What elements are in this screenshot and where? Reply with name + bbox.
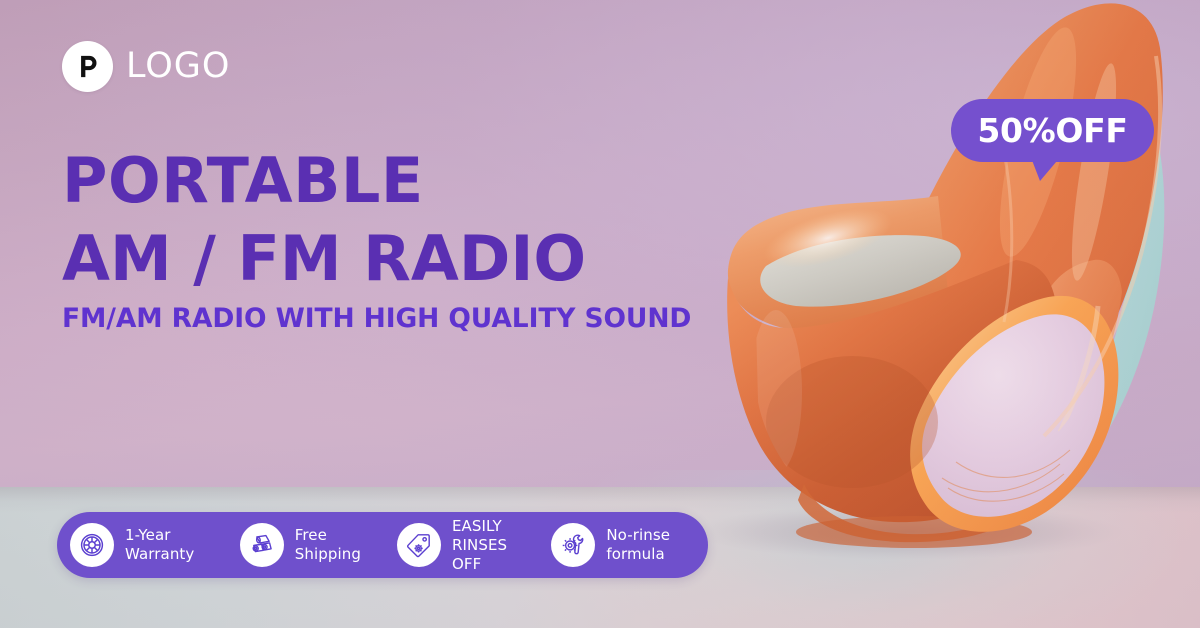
feature-item-no-rinse[interactable]: No-rinse formula bbox=[551, 523, 698, 567]
feature-item-rinses-off[interactable]: EASILY RINSES OFF bbox=[397, 517, 551, 574]
feature-item-shipping[interactable]: Free Shipping bbox=[240, 523, 397, 567]
feature-bar: 1-Year Warranty Free Shipping bbox=[57, 512, 708, 578]
feature-line-2: RINSES OFF bbox=[452, 536, 531, 574]
feature-line-2: formula bbox=[606, 545, 670, 564]
feature-item-warranty[interactable]: 1-Year Warranty bbox=[70, 523, 240, 567]
feature-line-1: No-rinse bbox=[606, 526, 670, 545]
feature-line-1: EASILY bbox=[452, 517, 531, 536]
p-monogram-icon bbox=[62, 41, 113, 92]
wheel-icon bbox=[70, 523, 114, 567]
feature-label-rinses-off: EASILY RINSES OFF bbox=[452, 517, 531, 574]
discount-badge[interactable]: 50%OFF bbox=[951, 99, 1154, 162]
headline-line-1: PORTABLE bbox=[62, 142, 702, 220]
feature-label-no-rinse: No-rinse formula bbox=[606, 526, 670, 564]
feature-line-2: Shipping bbox=[295, 545, 361, 564]
brand-logo[interactable]: LOGO bbox=[62, 41, 230, 92]
tag-gear-icon bbox=[397, 523, 441, 567]
feature-line-1: 1-Year bbox=[125, 526, 194, 545]
logo-text: LOGO bbox=[126, 49, 230, 84]
feature-line-1: Free bbox=[295, 526, 361, 545]
subheadline: FM/AM RADIO WITH HIGH QUALITY SOUND bbox=[62, 303, 702, 335]
headline-line-2: AM / FM RADIO bbox=[62, 220, 702, 298]
feature-label-warranty: 1-Year Warranty bbox=[125, 526, 194, 564]
headline-block: PORTABLE AM / FM RADIO FM/AM RADIO WITH … bbox=[62, 142, 702, 335]
gear-wrench-icon bbox=[551, 523, 595, 567]
rolls-icon bbox=[240, 523, 284, 567]
feature-line-2: Warranty bbox=[125, 545, 194, 564]
feature-label-shipping: Free Shipping bbox=[295, 526, 361, 564]
discount-badge-text: 50%OFF bbox=[977, 114, 1127, 147]
promo-banner: LOGO PORTABLE AM / FM RADIO FM/AM RADIO … bbox=[0, 0, 1200, 628]
